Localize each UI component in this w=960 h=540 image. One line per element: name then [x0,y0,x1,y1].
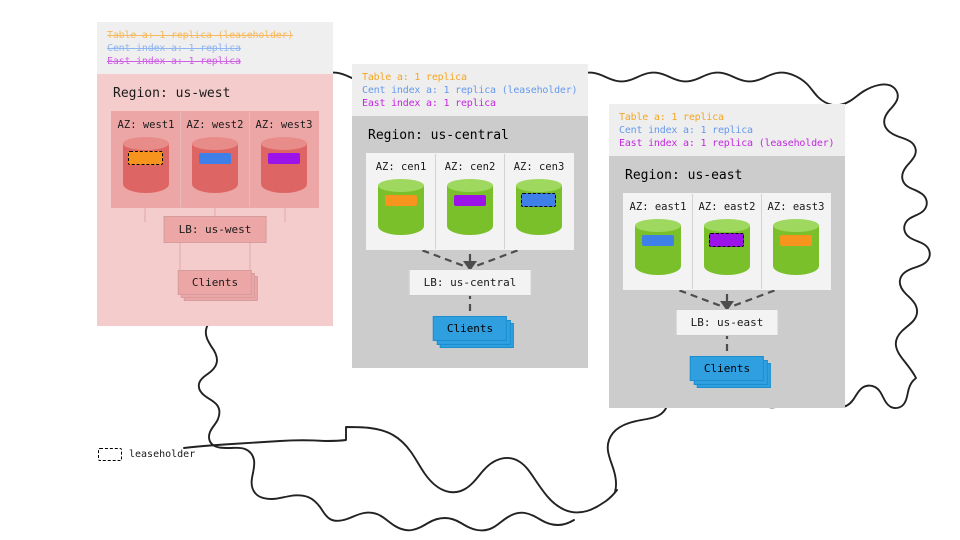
az-row-us-west: AZ: west1 AZ: west2 AZ [111,111,319,208]
node-cylinder-cen2 [447,179,493,239]
az-cell-west1: AZ: west1 [112,112,181,207]
node-cylinder-cen3 [516,179,562,239]
region-title-us-central: Region: us-central [352,116,588,153]
annotation-table: Table a: 1 replica (leaseholder) [107,30,323,43]
replica-chip-table-leaseholder [128,151,163,165]
replica-chip-cent-index-leaseholder [521,193,556,207]
az-cell-cen3: AZ: cen3 [505,154,573,249]
az-row-us-central: AZ: cen1 AZ: cen2 AZ: [366,153,574,250]
az-cell-west2: AZ: west2 [181,112,250,207]
az-label: AZ: east1 [624,201,692,213]
cylinder-body [447,185,493,235]
region-annotations-us-west: Table a: 1 replica (leaseholder) Cent in… [97,22,333,74]
replica-chip-table [385,195,417,206]
region-body-us-central: Region: us-central AZ: cen1 [352,116,588,368]
annotation-cent-index: Cent index a: 1 replica (leaseholder) [362,85,578,98]
az-cell-west3: AZ: west3 [250,112,318,207]
leaseholder-key: leaseholder [98,448,195,461]
annotation-table: Table a: 1 replica [619,112,835,125]
az-row-us-east: AZ: east1 AZ: east2 AZ [623,193,831,290]
az-label: AZ: east3 [762,201,830,213]
clients-stack-us-central[interactable]: Clients [433,316,507,341]
load-balancer-us-east[interactable]: LB: us-east [676,309,779,336]
node-cylinder-west1 [123,137,169,197]
load-balancer-us-west[interactable]: LB: us-west [164,216,267,243]
annotation-cent-index: Cent index a: 1 replica [107,43,323,56]
annotation-cent-index: Cent index a: 1 replica [619,125,835,138]
cylinder-body [192,143,238,193]
az-cell-cen2: AZ: cen2 [436,154,505,249]
az-label: AZ: west3 [250,119,318,131]
node-cylinder-east3 [773,219,819,279]
region-title-us-west: Region: us-west [97,74,333,111]
az-cell-east2: AZ: east2 [693,194,762,289]
az-label: AZ: west2 [181,119,249,131]
region-panel-us-east: Table a: 1 replica Cent index a: 1 repli… [609,104,845,408]
clients-stack-us-east[interactable]: Clients [690,356,764,381]
annotation-table: Table a: 1 replica [362,72,578,85]
region-annotations-us-east: Table a: 1 replica Cent index a: 1 repli… [609,104,845,156]
region-title-us-east: Region: us-east [609,156,845,193]
region-body-us-east: Region: us-east AZ: east1 [609,156,845,408]
replica-chip-east-index-leaseholder [709,233,744,247]
clients-box[interactable]: Clients [178,270,252,295]
region-body-us-west: Region: us-west AZ: west1 [97,74,333,326]
annotation-east-index: East index a: 1 replica [107,56,323,69]
az-cell-cen1: AZ: cen1 [367,154,436,249]
az-label: AZ: west1 [112,119,180,131]
diagram-canvas: Table a: 1 replica (leaseholder) Cent in… [0,0,960,540]
load-balancer-us-central[interactable]: LB: us-central [409,269,532,296]
az-label: AZ: cen1 [367,161,435,173]
clients-box[interactable]: Clients [433,316,507,341]
replica-chip-table [780,235,812,246]
annotation-east-index: East index a: 1 replica (leaseholder) [619,138,835,151]
az-cell-east1: AZ: east1 [624,194,693,289]
cylinder-body [635,225,681,275]
cylinder-body [378,185,424,235]
cylinder-body [773,225,819,275]
az-label: AZ: east2 [693,201,761,213]
replica-chip-east-index [268,153,300,164]
az-cell-east3: AZ: east3 [762,194,830,289]
leaseholder-key-label: leaseholder [129,449,195,460]
replica-chip-cent-index [199,153,231,164]
clients-box[interactable]: Clients [690,356,764,381]
replica-chip-cent-index [642,235,674,246]
annotation-east-index: East index a: 1 replica [362,98,578,111]
node-cylinder-east2 [704,219,750,279]
region-annotations-us-central: Table a: 1 replica Cent index a: 1 repli… [352,64,588,116]
replica-chip-east-index [454,195,486,206]
region-panel-us-central: Table a: 1 replica Cent index a: 1 repli… [352,64,588,368]
cylinder-body [261,143,307,193]
region-panel-us-west: Table a: 1 replica (leaseholder) Cent in… [97,22,333,326]
clients-stack-us-west[interactable]: Clients [178,270,252,295]
node-cylinder-west2 [192,137,238,197]
node-cylinder-west3 [261,137,307,197]
node-cylinder-cen1 [378,179,424,239]
dashed-rect-icon [98,448,122,461]
az-label: AZ: cen2 [436,161,504,173]
az-label: AZ: cen3 [505,161,573,173]
node-cylinder-east1 [635,219,681,279]
